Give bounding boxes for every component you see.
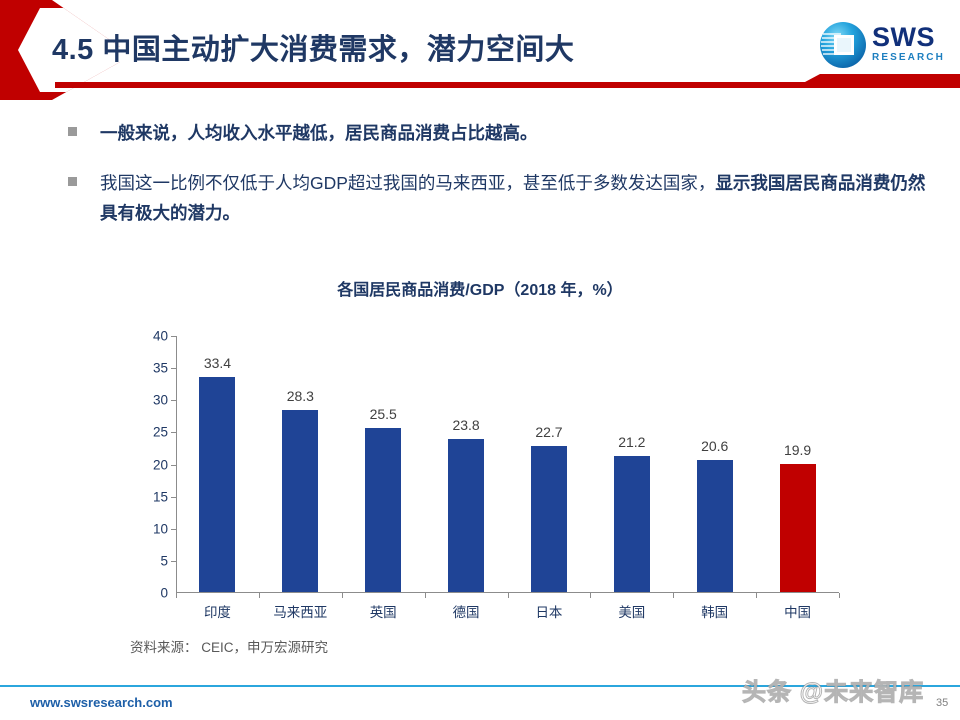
bar-value-label: 23.8: [452, 417, 479, 433]
x-axis-tick-mark: [425, 593, 426, 598]
y-axis-tick-label: 10: [153, 521, 168, 536]
y-axis-tick-mark: [171, 400, 176, 401]
y-axis-tick-label: 20: [153, 457, 168, 472]
bar-value-label: 20.6: [701, 438, 728, 454]
footer-website-link[interactable]: www.swsresearch.com: [30, 695, 173, 710]
bar-value-label: 25.5: [370, 406, 397, 422]
y-axis-tick-label: 25: [153, 425, 168, 440]
x-axis-tick-mark: [259, 593, 260, 598]
y-axis-tick-mark: [171, 529, 176, 530]
x-axis-label-德国: 德国: [453, 601, 480, 621]
sws-logo-name: SWS: [872, 24, 945, 51]
y-axis: [176, 336, 177, 593]
bar-印度: 33.4: [199, 377, 235, 592]
x-axis-label-中国: 中国: [784, 601, 811, 621]
bullet-text-2: 我国这一比例不仅低于人均GDP超过我国的马来西亚，甚至低于多数发达国家，显示我国…: [100, 168, 938, 228]
y-axis-tick-label: 35: [153, 361, 168, 376]
chart-plot-area: 0510152025303540 33.428.325.523.822.721.…: [176, 336, 839, 593]
y-axis-tick-mark: [171, 497, 176, 498]
sws-logo: SWS RESEARCH: [818, 18, 950, 76]
x-axis-tick-mark: [176, 593, 177, 598]
x-axis-label-韩国: 韩国: [701, 601, 728, 621]
bar-日本: 22.7: [531, 446, 567, 592]
bullet-square-icon: [68, 127, 77, 136]
sws-logo-text: SWS RESEARCH: [872, 24, 945, 64]
bullet-list: 一般来说，人均收入水平越低，居民商品消费占比越高。 我国这一比例不仅低于人均GD…: [68, 118, 938, 248]
sws-globe-icon: [818, 20, 868, 70]
slide-header: 4.5 中国主动扩大消费需求，潜力空间大: [0, 0, 960, 100]
list-item: 我国这一比例不仅低于人均GDP超过我国的马来西亚，甚至低于多数发达国家，显示我国…: [68, 168, 938, 228]
chart-source-note: 资料来源： CEIC，申万宏源研究: [130, 636, 328, 656]
y-axis-tick-label: 15: [153, 489, 168, 504]
bar-中国: 19.9: [780, 464, 816, 592]
bar-韩国: 20.6: [697, 460, 733, 592]
bar-chart: 0510152025303540 33.428.325.523.822.721.…: [140, 328, 850, 633]
x-axis-tick-mark: [590, 593, 591, 598]
y-axis-tick-label: 40: [153, 329, 168, 344]
bar-德国: 23.8: [448, 439, 484, 592]
bullet-square-icon: [68, 177, 77, 186]
page-title: 4.5 中国主动扩大消费需求，潜力空间大: [52, 26, 752, 68]
x-axis-label-马来西亚: 马来西亚: [273, 601, 327, 621]
y-axis-tick-label: 30: [153, 393, 168, 408]
bullet-text-2-normal: 我国这一比例不仅低于人均GDP超过我国的马来西亚，甚至低于多数发达国家，: [100, 173, 715, 193]
chart-title: 各国居民商品消费/GDP（2018 年，%）: [0, 276, 960, 300]
y-axis-tick-mark: [171, 465, 176, 466]
x-axis-label-英国: 英国: [370, 601, 397, 621]
bar-美国: 21.2: [614, 456, 650, 592]
y-axis-tick-mark: [171, 561, 176, 562]
x-axis-tick-mark: [756, 593, 757, 598]
x-axis-label-印度: 印度: [204, 601, 231, 621]
bar-value-label: 22.7: [535, 424, 562, 440]
y-axis-tick-mark: [171, 368, 176, 369]
bar-value-label: 28.3: [287, 388, 314, 404]
y-axis-tick-mark: [171, 336, 176, 337]
x-axis-label-美国: 美国: [618, 601, 645, 621]
sws-logo-subtitle: RESEARCH: [872, 51, 945, 64]
header-red-underline: [55, 74, 960, 88]
y-axis-tick-mark: [171, 432, 176, 433]
bar-马来西亚: 28.3: [282, 410, 318, 592]
list-item: 一般来说，人均收入水平越低，居民商品消费占比越高。: [68, 118, 938, 148]
page-number: 35: [936, 697, 948, 709]
bullet-text-1: 一般来说，人均收入水平越低，居民商品消费占比越高。: [100, 118, 538, 148]
x-axis-tick-mark: [342, 593, 343, 598]
bar-英国: 25.5: [365, 428, 401, 592]
bar-value-label: 21.2: [618, 434, 645, 450]
x-axis-tick-mark: [839, 593, 840, 598]
bar-value-label: 33.4: [204, 355, 231, 371]
watermark-text: 头条 @未来智库: [742, 672, 924, 707]
y-axis-tick-label: 0: [160, 586, 168, 601]
x-axis-tick-mark: [673, 593, 674, 598]
x-axis-label-日本: 日本: [535, 601, 562, 621]
x-axis-tick-mark: [508, 593, 509, 598]
bar-value-label: 19.9: [784, 442, 811, 458]
y-axis-tick-label: 5: [160, 553, 168, 568]
